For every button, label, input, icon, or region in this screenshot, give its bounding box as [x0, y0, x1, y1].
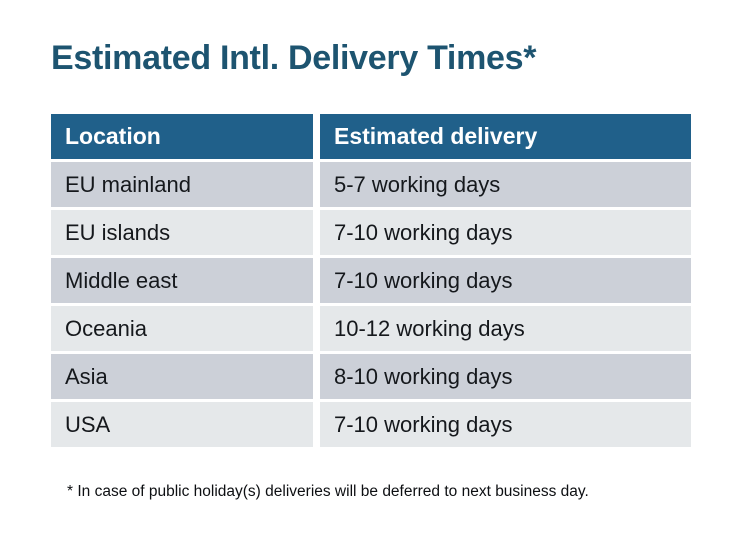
table-header-row: Location Estimated delivery [51, 114, 691, 159]
footnote-text: * In case of public holiday(s) deliverie… [67, 482, 727, 502]
cell-location: Middle east [51, 258, 313, 303]
cell-estimated-delivery: 7-10 working days [320, 258, 691, 303]
table-row: EU mainland 5-7 working days [51, 162, 691, 207]
cell-location: EU mainland [51, 162, 313, 207]
delivery-times-card: Estimated Intl. Delivery Times* Location… [0, 0, 745, 536]
cell-estimated-delivery: 8-10 working days [320, 354, 691, 399]
cell-estimated-delivery: 7-10 working days [320, 210, 691, 255]
table-row: Oceania 10-12 working days [51, 306, 691, 351]
cell-location: Asia [51, 354, 313, 399]
delivery-times-table: Location Estimated delivery EU mainland … [51, 114, 691, 447]
table-row: USA 7-10 working days [51, 402, 691, 447]
table-row: Middle east 7-10 working days [51, 258, 691, 303]
table-row: EU islands 7-10 working days [51, 210, 691, 255]
column-header-estimated-delivery: Estimated delivery [320, 114, 691, 159]
cell-location: EU islands [51, 210, 313, 255]
cell-estimated-delivery: 5-7 working days [320, 162, 691, 207]
cell-location: USA [51, 402, 313, 447]
table-row: Asia 8-10 working days [51, 354, 691, 399]
page-title: Estimated Intl. Delivery Times* [51, 36, 691, 80]
cell-estimated-delivery: 10-12 working days [320, 306, 691, 351]
cell-estimated-delivery: 7-10 working days [320, 402, 691, 447]
cell-location: Oceania [51, 306, 313, 351]
column-header-location: Location [51, 114, 313, 159]
